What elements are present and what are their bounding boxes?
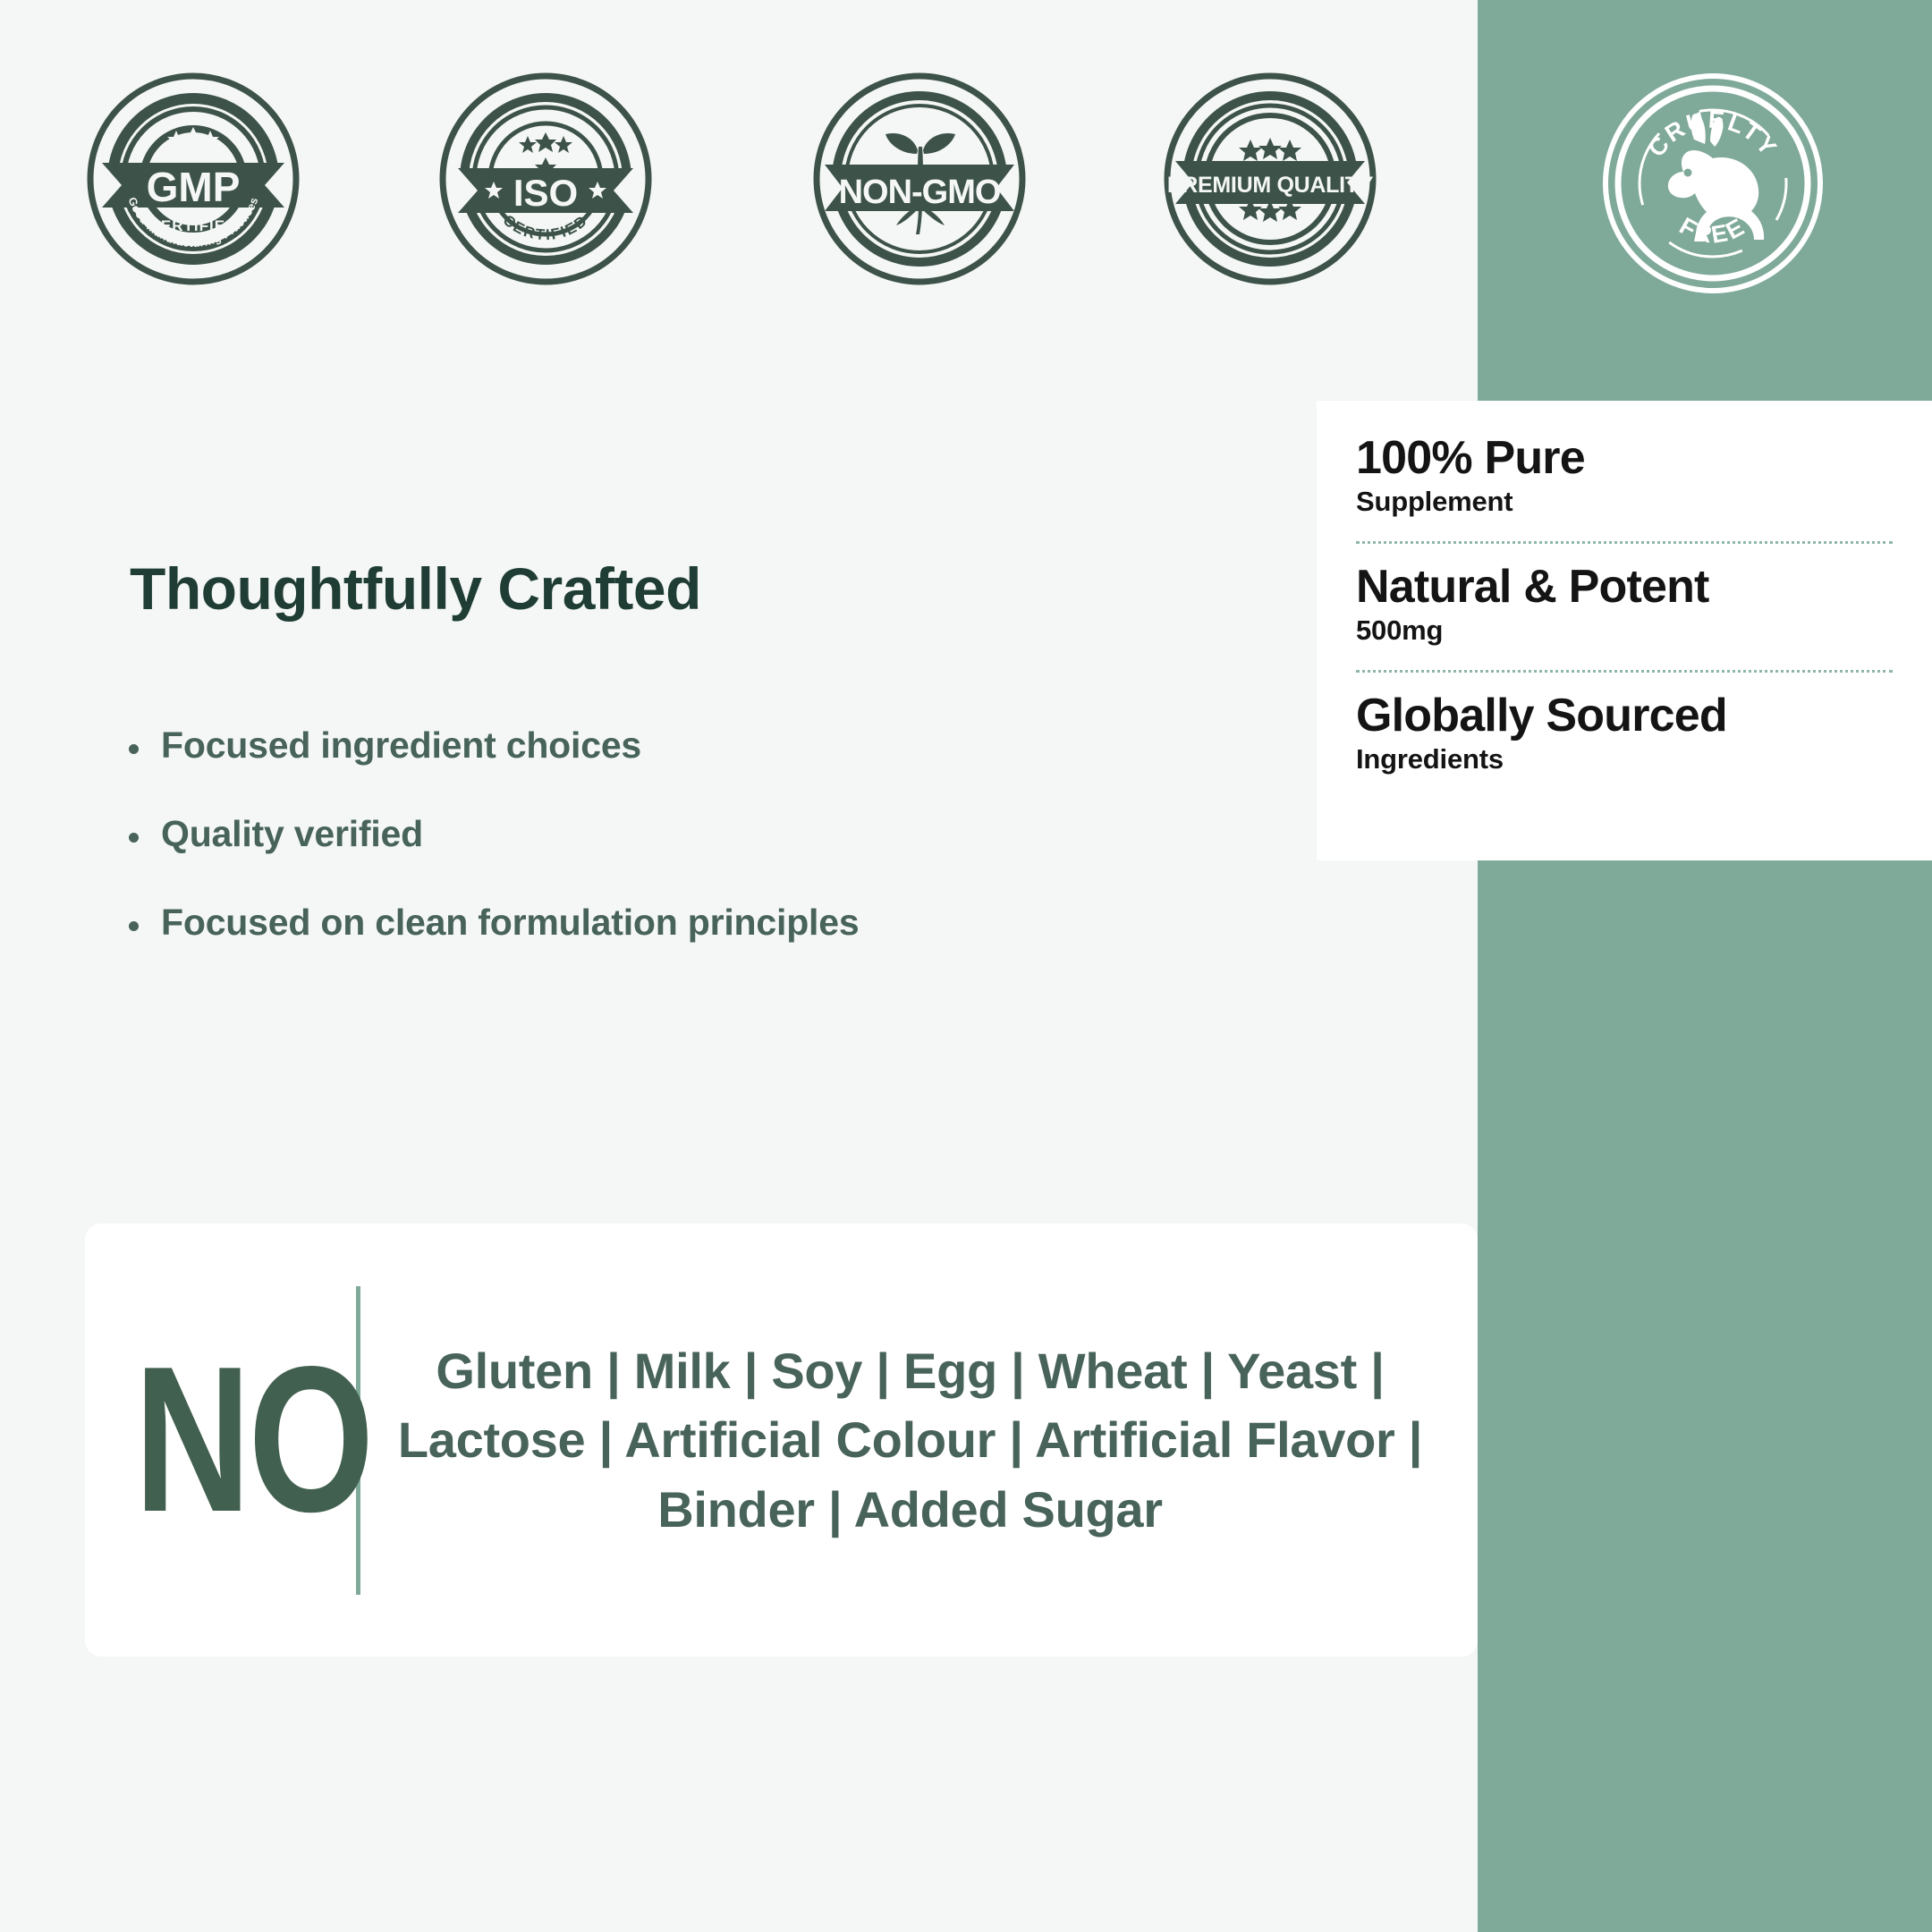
non-gmo-ribbon-text: NON-GMO [839,174,1001,211]
list-item-label: Focused on clean formulation principles [161,902,859,943]
product-highlights-card: 100% Pure Supplement Natural & Potent 50… [1317,401,1932,860]
free-from-items: Gluten | Milk | Soy | Egg | Wheat | Yeas… [396,1336,1478,1544]
page-title: Thoughtfully Crafted [130,555,701,623]
divider [1356,670,1893,673]
certification-badge-strip: GMP CERTIFIED Good Manufacturing Practic… [0,0,1932,358]
highlight-row-purity: 100% Pure Supplement [1356,435,1893,518]
bullet-dot-icon [129,744,139,754]
list-item-label: Quality verified [161,813,423,854]
iso-ribbon-text: ISO [513,172,578,214]
non-gmo-sprout-badge: NON-GMO [812,72,1027,286]
free-from-card: NO Gluten | Milk | Soy | Egg | Wheat | Y… [85,1224,1478,1657]
highlight-title: 100% Pure [1356,435,1893,482]
highlight-subtitle: Supplement [1356,486,1893,518]
premium-quality-badge: PREMIUM QUALITY [1163,72,1377,286]
highlight-subtitle: Ingredients [1356,743,1893,775]
iso-certified-badge: ISO CERTIFIED [438,72,653,286]
gmp-ribbon-text: GMP [147,164,241,210]
benefits-list: Focused ingredient choices Quality verif… [123,724,1286,990]
gmp-certified-badge: GMP CERTIFIED Good Manufacturing Practic… [86,72,301,286]
highlight-subtitle: 500mg [1356,614,1893,647]
no-label: NO [134,1355,294,1525]
highlight-title: Natural & Potent [1356,563,1893,611]
bullet-dot-icon [129,833,139,843]
divider [1356,541,1893,544]
list-item: Quality verified [123,813,1286,855]
highlight-title: Globally Sourced [1356,692,1893,740]
cruelty-free-rabbit-badge: CRUELTY FREE [1601,72,1825,295]
premium-quality-ribbon-text: PREMIUM QUALITY [1167,173,1374,198]
list-item-label: Focused ingredient choices [161,724,641,766]
bullet-dot-icon [129,921,139,931]
highlight-row-potency: Natural & Potent 500mg [1356,563,1893,647]
list-item: Focused on clean formulation principles [123,902,1286,944]
list-item: Focused ingredient choices [123,724,1286,767]
highlight-row-sourcing: Globally Sourced Ingredients [1356,692,1893,775]
